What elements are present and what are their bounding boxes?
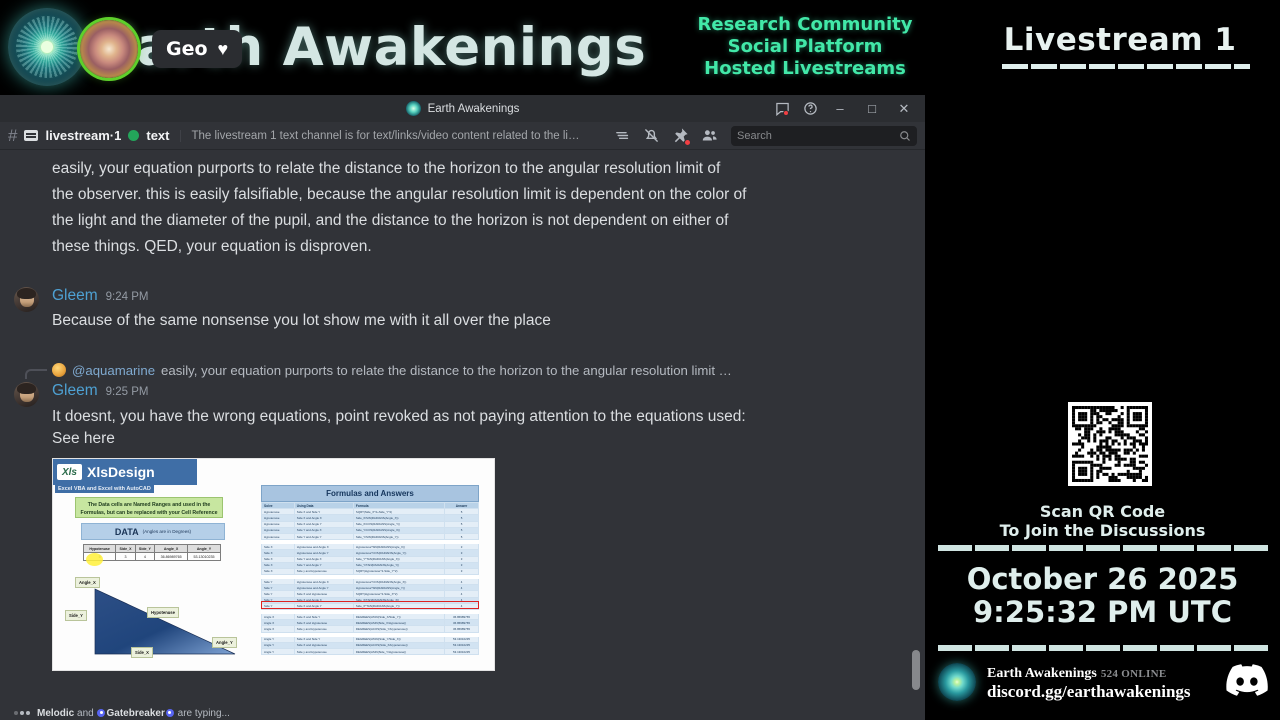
formulas-table-title: Formulas and Answers [261,485,479,502]
help-icon[interactable] [797,98,823,120]
discord-window: Earth Awakenings – □ ✕ [0,95,925,720]
data-table: Hypotenuse Side_X Side_Y Angle_X Angle_Y… [83,544,221,561]
message-line: the light and the diameter of the pupil,… [0,208,925,234]
typing-dots-icon [14,711,30,715]
data-section-header: DATA (Angles are in Degrees) [81,523,225,540]
message-header: Gleem 9:25 PM [52,381,885,402]
diagram-label-angle-x: Angle_X [75,577,100,588]
message-body-line-1: It doesnt, you have the wrong equations,… [52,402,885,428]
search-icon [899,130,911,142]
livestream-title-underline [1002,64,1250,69]
typing-text: Melodic and Gatebreaker are typing... [37,708,230,719]
data-table-row: 5 3 4 36.86989765 53.13010235 [84,553,221,561]
diagram-label-hypotenuse: Hypotenuse [147,607,179,618]
message-timestamp: 9:24 PM [106,287,149,307]
window-titlebar: Earth Awakenings – □ ✕ [0,95,925,122]
window-title: Earth Awakenings [428,103,520,115]
data-header-cell: Angle_Y [188,545,221,553]
screen-root: Earth Awakenings Research Community Soci… [0,0,1280,720]
mandala-logo-icon [8,8,86,86]
data-label: DATA [115,527,139,537]
xlsdesign-title: XlsDesign [87,464,155,480]
clock-time: 9:25:32 PM UTC [925,596,1280,629]
notifications-off-icon[interactable] [641,126,661,146]
divider-bottom [938,645,1268,651]
channel-header: # livestream·1 text The livestream 1 tex… [0,122,925,150]
speech-badge-icon [24,130,38,141]
message-header: Gleem 9:24 PM [52,286,885,307]
badge-icon [166,709,174,717]
message-item[interactable]: Gleem 9:24 PM Because of the same nonsen… [0,284,925,334]
close-button[interactable]: ✕ [889,98,919,120]
hash-icon: # [8,127,17,144]
formulas-table-row: Angle YSide y and HypotenuseDEGREES(ASIN… [262,648,479,654]
footer-server-name: Earth Awakenings [987,666,1097,681]
clock-block: October 26 2025 9:25:32 PM UTC [925,563,1280,629]
minimize-button[interactable]: – [825,98,855,120]
inbox-unread-dot [783,110,789,116]
threads-icon[interactable] [612,126,632,146]
chat-message-bubble: Geo ♥ [152,30,242,68]
channel-topic[interactable]: The livestream 1 text channel is for tex… [180,130,580,142]
server-logo-icon [406,101,421,116]
message-list[interactable]: easily, your equation purports to relate… [0,150,925,706]
formulas-cell: Side y and Hypotenuse [294,648,353,654]
formulas-table-grid: Solve Using Data Formula Answer Hypotenu… [261,502,479,655]
server-footer: Earth Awakenings524 ONLINE discord.gg/ea… [938,663,1268,701]
diagram-label-side-x: Side_X [131,647,153,658]
reply-avatar [52,363,66,377]
formulas-cell: DEGREES(ASIN(Side_Y/Hypotenuse)) [353,648,444,654]
excel-logo-icon: Xls [57,464,82,480]
message-scrollbar[interactable] [912,650,920,690]
message-body-line-2: See here [52,428,885,450]
data-header-cell: Angle_X [155,545,188,553]
right-triangle-diagram [85,584,255,664]
badge-icon [97,709,105,717]
data-header-cell: Side_Y [135,545,154,553]
formulas-cell: Angle Y [262,648,295,654]
qr-caption: Scan QR Code To Join the Discussions [925,502,1280,540]
server-footer-text: Earth Awakenings524 ONLINE discord.gg/ea… [987,665,1191,700]
pinned-unread-dot [684,139,691,146]
message-attachment-image[interactable]: Xls XlsDesign Excel VBA and Excel with A… [52,458,495,671]
typing-conjunction: and [77,708,94,719]
search-placeholder: Search [737,130,899,142]
embed-note: The Data cells are Named Ranges and used… [75,497,223,518]
footer-server-name-row: Earth Awakenings524 ONLINE [987,665,1191,683]
tagline-line-2: Social Platform [660,36,950,58]
typing-indicator: Melodic and Gatebreaker are typing... [0,706,925,720]
tagline-line-3: Hosted Livestreams [660,58,950,80]
footer-invite-link[interactable]: discord.gg/earthawakenings [987,683,1191,700]
data-cell: 4 [135,553,154,561]
data-cell: 36.86989765 [155,553,188,561]
formulas-cell: 53.13010235 [445,648,479,654]
data-table-header-row: Hypotenuse Side_X Side_Y Angle_X Angle_Y [84,545,221,553]
channel-name-suffix: text [146,128,169,143]
data-sublabel: (Angles are in Degrees) [143,529,192,534]
pinned-messages-icon[interactable] [670,126,690,146]
formulas-table-body: HypotenuseSide X and Side YSQRT(Side_X^2… [262,509,479,655]
message-author[interactable]: Gleem [52,286,98,306]
qr-code[interactable] [1068,402,1152,486]
mandala-avatar-icon [80,20,138,78]
xlsdesign-header: Xls XlsDesign [53,459,197,485]
message-line: these things. QED, your equation is disp… [0,234,925,260]
diagram-label-side-y: Side_Y [65,610,87,621]
message-body: Because of the same nonsense you lot sho… [52,307,885,332]
discord-logo-icon [1226,664,1268,701]
typing-user-1: Melodic [37,708,74,719]
message-item[interactable]: @aquamarine easily, your equation purpor… [0,360,925,452]
chat-username: Geo [166,38,208,60]
chat-overlay-row: Geo ♥ [80,20,242,78]
clock-date: October 26 2025 [925,563,1280,596]
titlebar-controls: – □ ✕ [769,98,919,120]
livestream-title: Livestream 1 [960,22,1280,58]
avatar[interactable] [14,287,39,312]
footer-online-count: 524 ONLINE [1101,668,1167,680]
message-line: easily, your equation purports to relate… [0,156,925,182]
banner-tagline: Research Community Social Platform Hoste… [660,14,950,80]
data-header-cell: Side_X [116,545,135,553]
message-timestamp: 9:25 PM [106,382,149,402]
channel-header-actions: Search [612,126,917,146]
reply-reference[interactable]: @aquamarine easily, your equation purpor… [0,360,925,380]
maximize-button[interactable]: □ [857,98,887,120]
qr-code-pattern [1072,406,1148,482]
avatar[interactable] [14,382,39,407]
message-author[interactable]: Gleem [52,381,98,401]
diagram-label-angle-y: Angle_Y [212,637,237,648]
formulas-table: Formulas and Answers Solve Using Data Fo… [261,485,479,655]
cell-highlight [86,553,103,566]
typing-user-2: Gatebreaker [106,708,164,719]
data-cell: 3 [116,553,135,561]
reply-author[interactable]: @aquamarine [72,363,155,378]
data-header-cell: Hypotenuse [84,545,116,553]
members-list-icon[interactable] [699,126,719,146]
message-content: Gleem 9:25 PM It doesnt, you have the wr… [0,381,925,452]
qr-caption-line-2: To Join the Discussions [925,521,1280,540]
tagline-line-1: Research Community [660,14,950,36]
data-cell: 53.13010235 [188,553,221,561]
channel-name[interactable]: livestream·1 [45,128,121,143]
reply-connector-icon [25,369,47,379]
message-line: the observer. this is easily falsifiable… [0,182,925,208]
typing-suffix: are typing... [178,708,230,719]
qr-caption-line-1: Scan QR Code [925,502,1280,521]
search-input[interactable]: Search [731,126,917,146]
message-continuation: easily, your equation purports to relate… [0,152,925,260]
heart-icon: ♥ [218,39,229,60]
divider-top [938,545,1268,551]
inbox-icon[interactable] [769,98,795,120]
reply-preview-text: easily, your equation purports to relate… [161,363,732,378]
xlsdesign-subtitle: Excel VBA and Excel with AutoCAD [55,485,154,493]
online-status-icon [128,130,139,141]
mandala-logo-icon [938,663,976,701]
